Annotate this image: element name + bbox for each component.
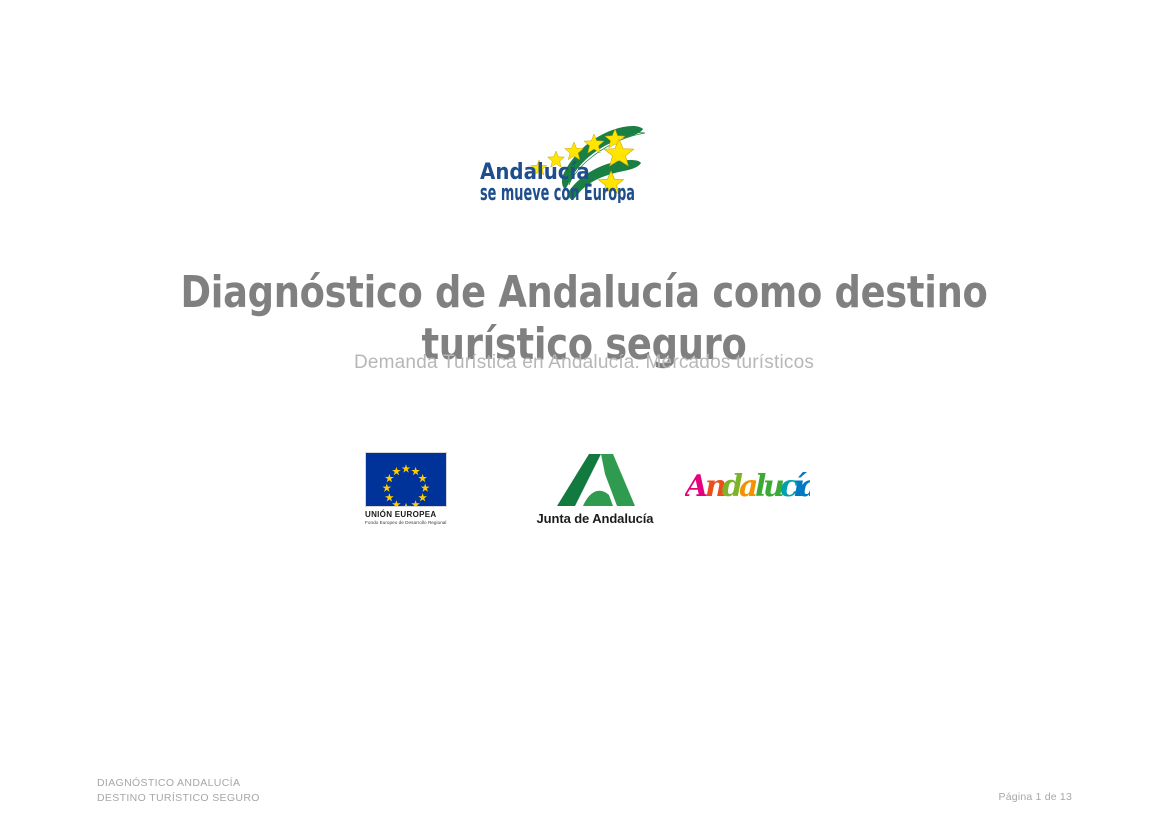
footer-page-number: Página 1 de 13 [999, 791, 1072, 803]
junta-de-andalucia-logo: Junta de Andalucía [515, 452, 675, 526]
andalucia-se-mueve-con-europa-logo: Andalucía se mueve con Europa [477, 103, 667, 203]
junta-caption: Junta de Andalucía [515, 511, 675, 526]
eu-flag [365, 452, 447, 507]
page-subtitle: Demanda Turística en Andalucía. Mercados… [134, 352, 1034, 374]
junta-a-mark [515, 452, 675, 508]
footer-document-label: DIAGNÓSTICO ANDALUCÍA DESTINO TURÍSTICO … [97, 776, 260, 806]
europa-logo-line2: se mueve con Europa [480, 181, 635, 203]
eu-subcaption: Fondo Europeo de Desarrollo Regional [365, 520, 451, 525]
andalucia-brand-wordmark: A n d a l u c í a [685, 464, 815, 508]
eu-flag-field [366, 453, 446, 506]
brand-letter-a2: a [799, 469, 810, 504]
eu-caption: UNIÓN EUROPEA [365, 510, 451, 519]
union-europea-logo: UNIÓN EUROPEA Fondo Europeo de Desarroll… [365, 452, 451, 525]
logo-strip: UNIÓN EUROPEA Fondo Europeo de Desarroll… [355, 452, 825, 542]
slide-canvas: Andalucía se mueve con Europa Diagnóstic… [0, 0, 1169, 826]
